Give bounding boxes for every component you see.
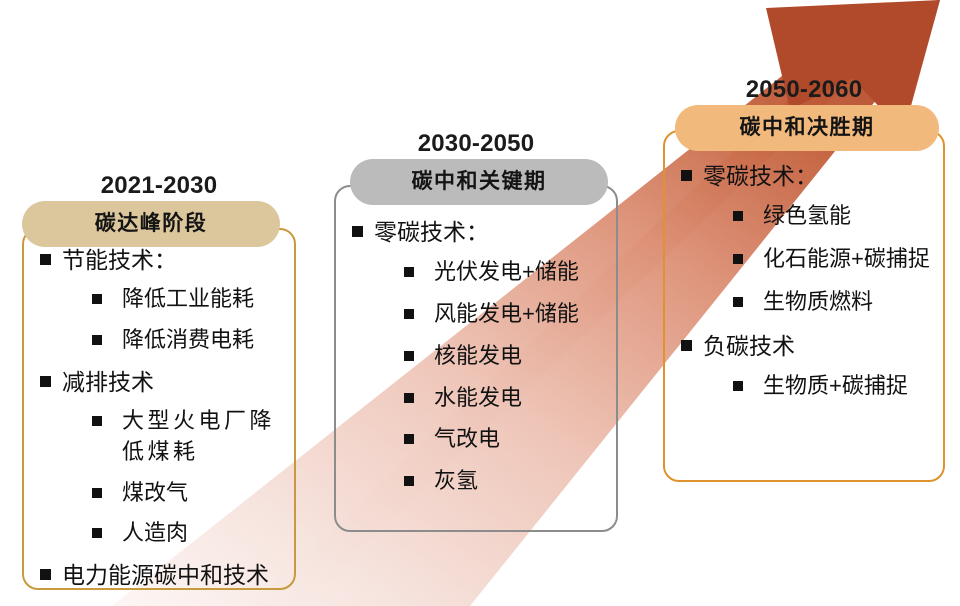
square-bullet-icon: [404, 267, 414, 277]
stage-1-title-pill: 碳达峰阶段: [22, 201, 280, 247]
list-item-label: 零碳技术：: [703, 160, 939, 192]
square-bullet-icon: [404, 476, 414, 486]
square-bullet-icon: [733, 254, 743, 264]
stage-2-years: 2030-2050: [334, 130, 618, 158]
list-item: 煤改气: [92, 478, 290, 509]
list-item-label: 人造肉: [122, 518, 290, 549]
list-item: 绿色氢能: [733, 201, 939, 232]
list-item-label: 气改电: [434, 424, 612, 455]
square-bullet-icon: [733, 297, 743, 307]
list-item-label: 绿色氢能: [763, 201, 939, 232]
stage-2-list: 零碳技术： 光伏发电+储能 风能发电+储能 核能发电 水能发电 气改电 灰氢: [352, 216, 612, 508]
list-item: 化石能源+碳捕捉: [733, 244, 939, 275]
list-item-label: 光伏发电+储能: [434, 257, 612, 288]
list-item: 水能发电: [404, 383, 612, 414]
square-bullet-icon: [404, 393, 414, 403]
stage-1-years: 2021-2030: [22, 172, 296, 200]
square-bullet-icon: [40, 254, 51, 265]
list-item: 核能发电: [404, 341, 612, 372]
square-bullet-icon: [40, 569, 51, 580]
list-item-label: 减排技术: [62, 366, 290, 398]
square-bullet-icon: [92, 416, 102, 426]
list-item: 人造肉: [92, 518, 290, 549]
list-item-label: 降低消费电耗: [122, 325, 290, 356]
stage-3-years: 2050-2060: [663, 76, 945, 104]
square-bullet-icon: [404, 351, 414, 361]
list-item-label: 煤改气: [122, 478, 290, 509]
square-bullet-icon: [733, 381, 743, 391]
list-item: 负碳技术: [681, 330, 939, 362]
stage-3-list: 零碳技术： 绿色氢能 化石能源+碳捕捉 生物质燃料 负碳技术 生物质+碳捕捉: [681, 160, 939, 414]
list-item-label: 电力能源碳中和技术: [62, 559, 290, 591]
list-item: 大型火电厂降低煤耗: [92, 406, 290, 468]
list-item-label: 生物质+碳捕捉: [763, 371, 939, 402]
list-item-label: 负碳技术: [703, 330, 939, 362]
list-item-label: 化石能源+碳捕捉: [763, 244, 939, 275]
square-bullet-icon: [404, 309, 414, 319]
list-item: 光伏发电+储能: [404, 257, 612, 288]
square-bullet-icon: [681, 340, 692, 351]
list-item: 零碳技术：: [681, 160, 939, 192]
list-item: 生物质燃料: [733, 287, 939, 318]
list-item-label: 核能发电: [434, 341, 612, 372]
list-item: 风能发电+储能: [404, 299, 612, 330]
square-bullet-icon: [92, 488, 102, 498]
square-bullet-icon: [733, 211, 743, 221]
square-bullet-icon: [352, 226, 363, 237]
list-item-label: 零碳技术：: [374, 216, 612, 248]
list-item-label: 风能发电+储能: [434, 299, 612, 330]
square-bullet-icon: [92, 294, 102, 304]
square-bullet-icon: [681, 170, 692, 181]
list-item: 节能技术：: [40, 244, 290, 276]
square-bullet-icon: [40, 376, 51, 387]
infographic-canvas: 2021-2030 碳达峰阶段 节能技术： 降低工业能耗 降低消费电耗 减排技术…: [0, 0, 960, 606]
stage-2-title-pill: 碳中和关键期: [350, 159, 608, 205]
list-item: 气改电: [404, 424, 612, 455]
list-item: 减排技术: [40, 366, 290, 398]
square-bullet-icon: [92, 528, 102, 538]
list-item: 降低消费电耗: [92, 325, 290, 356]
list-item-label: 生物质燃料: [763, 287, 939, 318]
list-item: 生物质+碳捕捉: [733, 371, 939, 402]
list-item: 零碳技术：: [352, 216, 612, 248]
square-bullet-icon: [404, 434, 414, 444]
list-item-label: 降低工业能耗: [122, 284, 290, 315]
stage-1-list: 节能技术： 降低工业能耗 降低消费电耗 减排技术 大型火电厂降低煤耗 煤改气 人…: [40, 244, 290, 599]
list-item-label: 节能技术：: [62, 244, 290, 276]
square-bullet-icon: [92, 335, 102, 345]
list-item: 电力能源碳中和技术: [40, 559, 290, 591]
list-item-label: 大型火电厂降低煤耗: [122, 406, 290, 468]
stage-3-title-pill: 碳中和决胜期: [675, 105, 939, 151]
list-item: 降低工业能耗: [92, 284, 290, 315]
list-item: 灰氢: [404, 466, 612, 497]
list-item-label: 水能发电: [434, 383, 612, 414]
list-item-label: 灰氢: [434, 466, 612, 497]
